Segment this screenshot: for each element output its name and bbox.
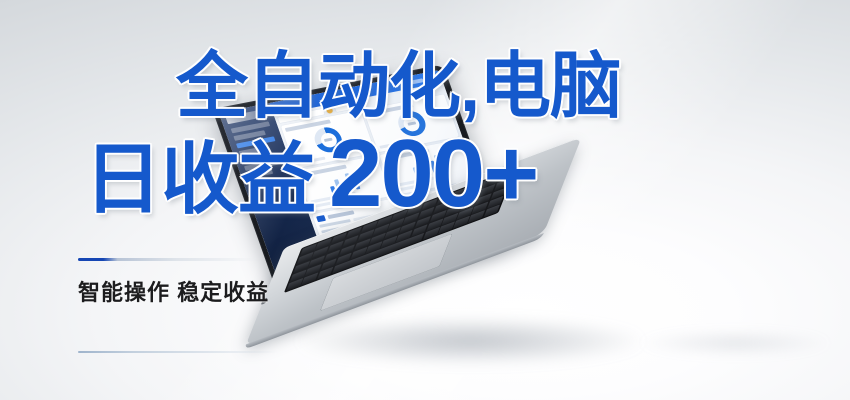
accent-rule-bottom [78,351,278,353]
headline-overlay: 全自动化,电脑 日收益 200+ [0,0,850,400]
headline-line-2-text: 日收益 [84,137,315,221]
headline-highlight-number: 200+ [329,132,537,216]
banner-subtitle: 智能操作 稳定收益 [78,275,269,307]
headline-line-1: 全自动化,电脑 [176,48,621,126]
accent-rule-top [78,258,258,261]
promo-banner: 全自动化,电脑 日收益 200+ 智能操作 稳定收益 [0,0,850,400]
headline-line-2: 日收益 200+ [84,132,537,221]
